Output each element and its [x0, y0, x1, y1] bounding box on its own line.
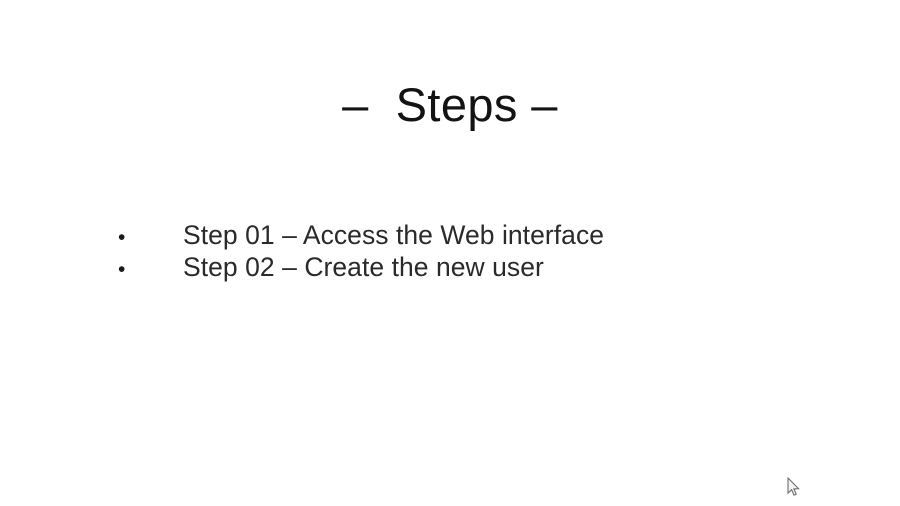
slide-title-block: – Steps – — [0, 48, 900, 164]
presentation-slide[interactable]: – Steps – • Step 01 – Access the Web int… — [0, 0, 900, 506]
page-title: – Steps – — [342, 79, 558, 132]
bullet-point-icon: • — [0, 222, 122, 254]
bullet-point-icon: • — [0, 254, 122, 286]
slide-body-bullet-list: • Step 01 – Access the Web interface • S… — [0, 219, 900, 283]
list-item: • Step 01 – Access the Web interface — [0, 219, 900, 251]
list-item: • Step 02 – Create the new user — [0, 251, 900, 283]
list-item-label: Step 01 – Access the Web interface — [183, 219, 900, 251]
mouse-pointer-arrow-icon — [787, 477, 801, 497]
list-item-label: Step 02 – Create the new user — [183, 251, 900, 283]
